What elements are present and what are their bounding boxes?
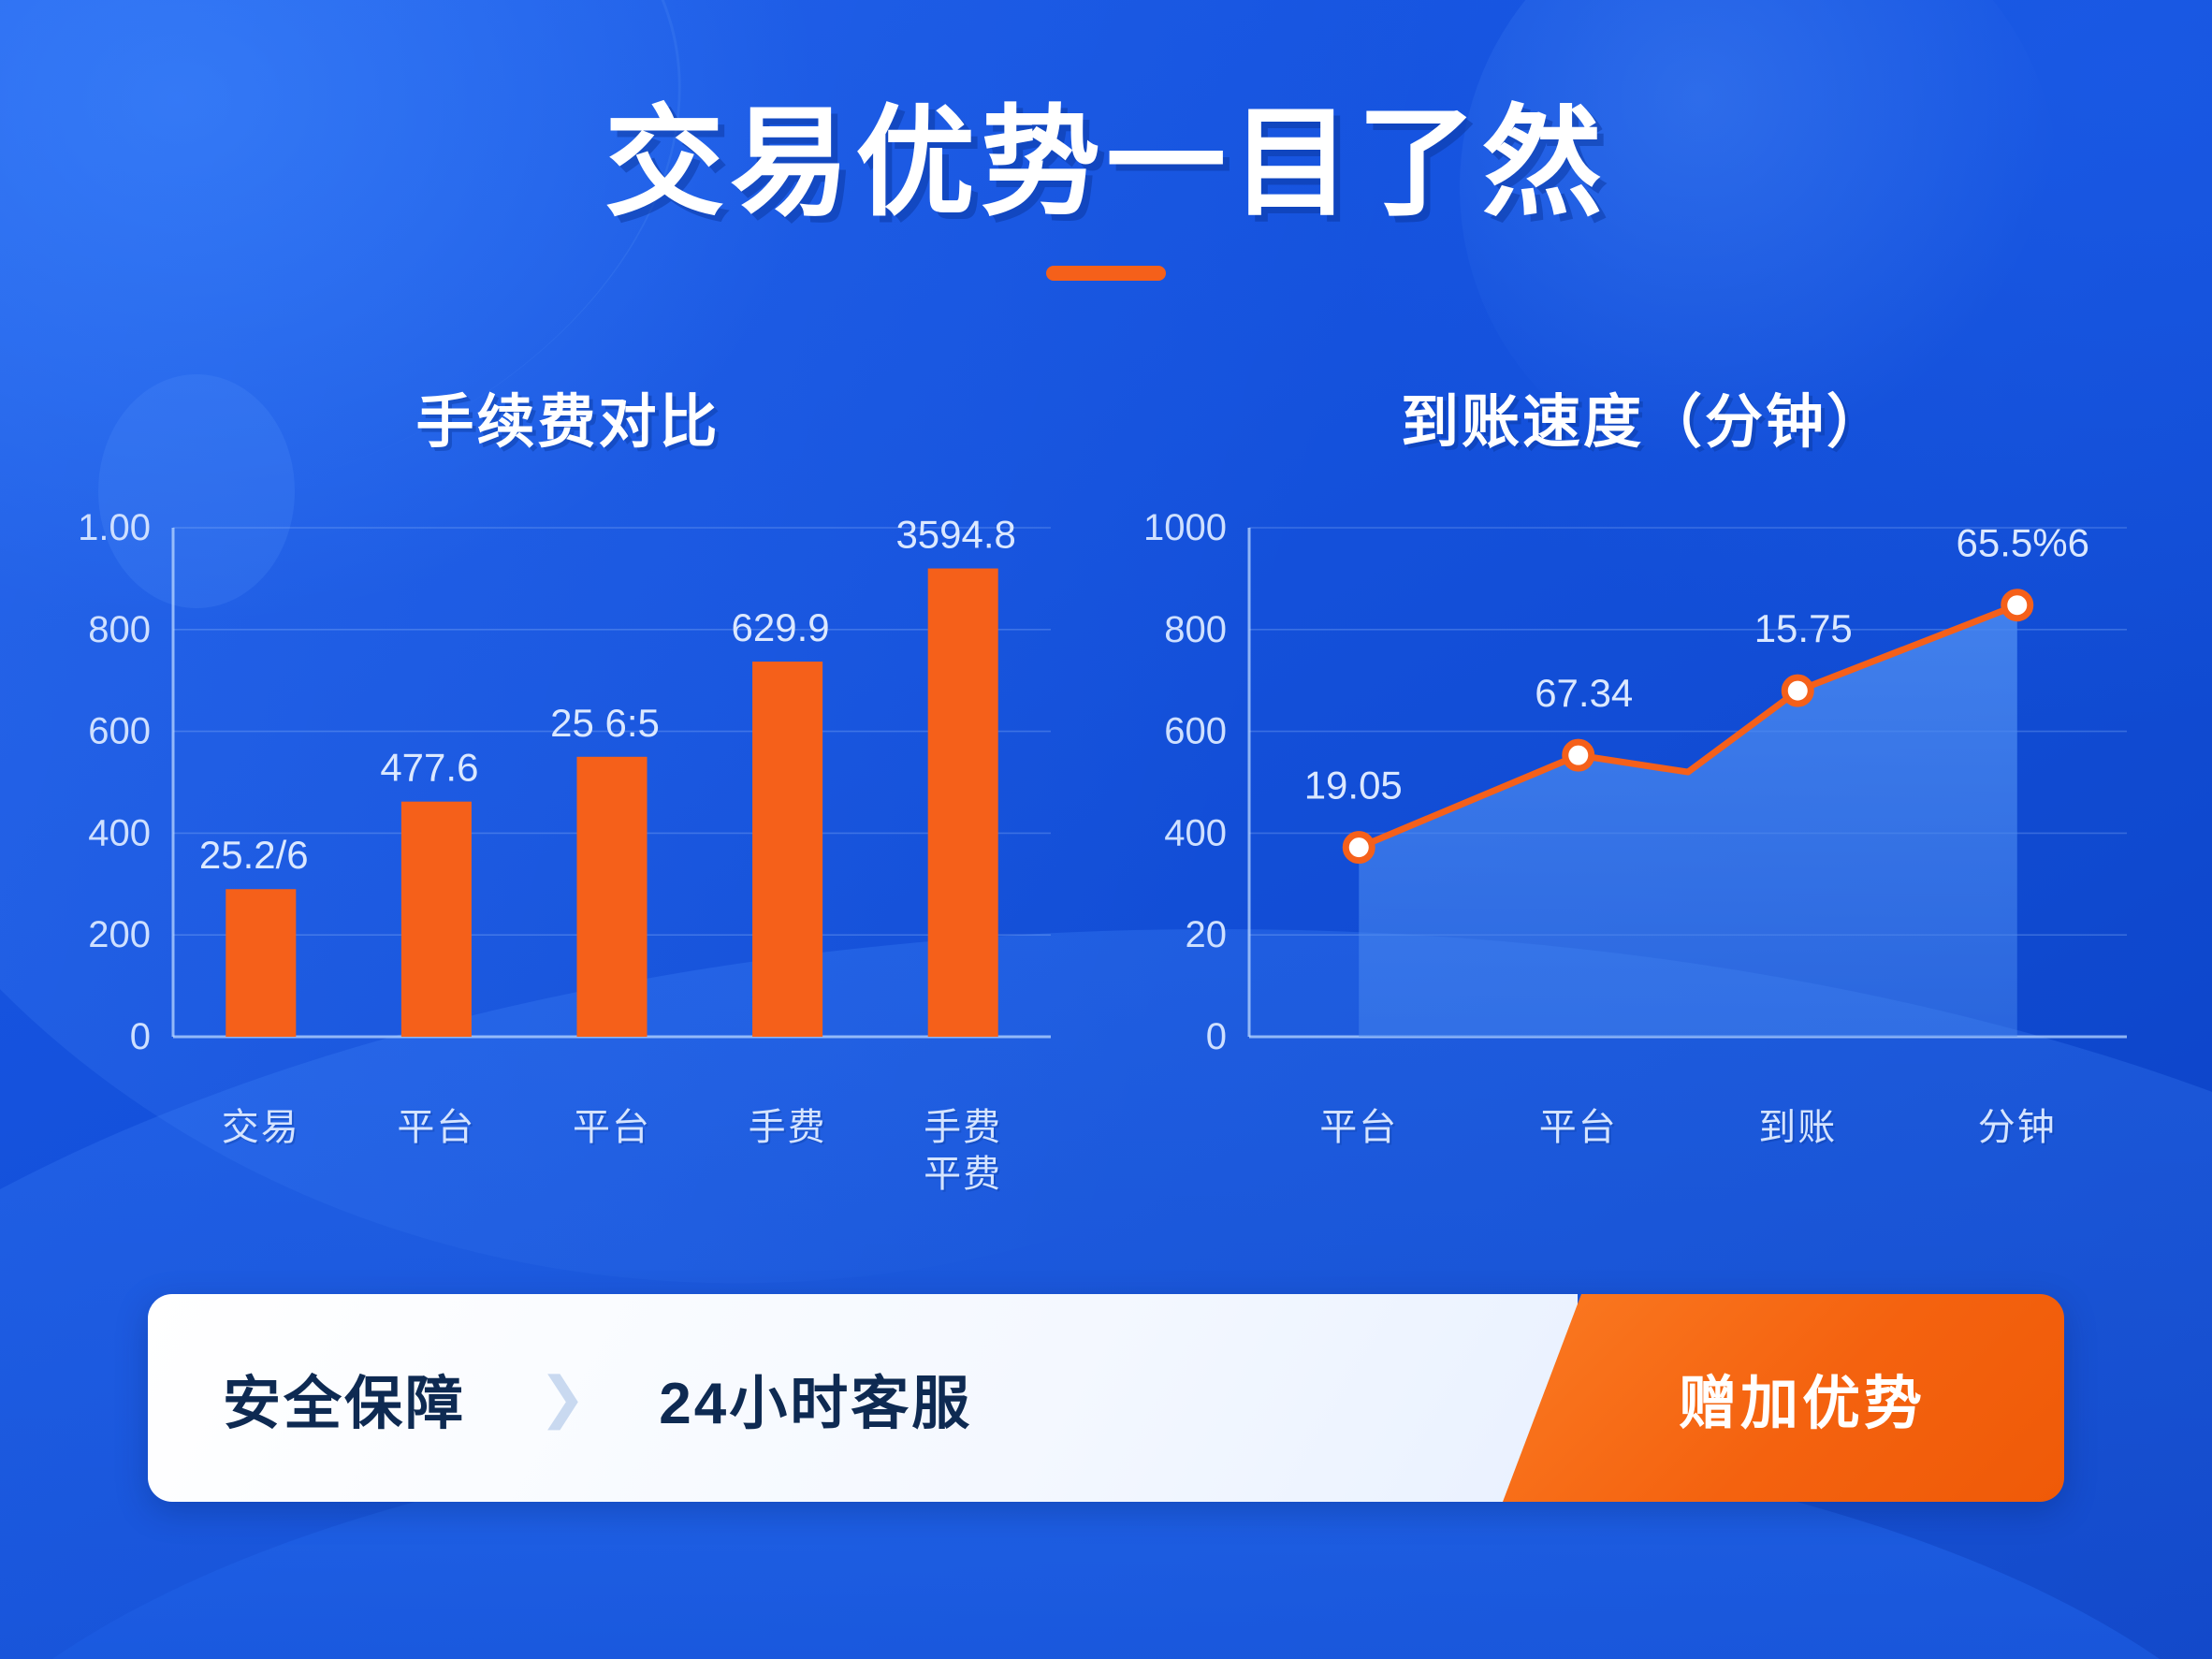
y-tick-label: 800: [1164, 609, 1227, 650]
x-tick-label: 交易: [173, 1104, 349, 1198]
bottom-bar-item-advantage: 赠加优势: [1641, 1356, 1926, 1440]
chart-title-speed: 到账速度（分钟）: [1148, 374, 2140, 458]
x-tick-label: 平台: [1249, 1104, 1469, 1151]
bar-chart-svg: 1.00800600400200025.2/6477.625 6:5629.93…: [72, 503, 1064, 1084]
header: 交易优势一目了然: [0, 0, 2212, 281]
bar: [576, 757, 647, 1037]
bottom-bar-light-section: 安全保障 ❯ 24小时客服: [148, 1294, 1578, 1502]
chart-title-fees: 手续费对比: [72, 374, 1064, 458]
y-tick-label: 0: [1206, 1016, 1227, 1057]
bar-value-label: 3594.8: [895, 513, 1015, 557]
bar: [401, 802, 472, 1037]
charts-container: 手续费对比 1.00800600400200025.2/6477.625 6:5…: [0, 374, 2212, 1198]
y-tick-label: 600: [1164, 711, 1227, 752]
y-tick-label: 200: [88, 914, 151, 955]
data-point-marker: [1784, 677, 1811, 704]
bar-value-label: 629.9: [732, 605, 830, 649]
page-title: 交易优势一目了然: [0, 101, 2212, 226]
data-point-marker: [2004, 592, 2030, 618]
x-tick-label: 到账: [1688, 1104, 1908, 1151]
bar-value-label: 25.2/6: [199, 833, 309, 877]
bar-chart-x-axis-labels: 交易平台平台手费手费平费: [72, 1104, 1064, 1198]
y-tick-label: 0: [130, 1016, 151, 1057]
area-fill: [1359, 605, 2017, 1037]
y-tick-label: 1.00: [78, 507, 151, 548]
x-tick-label: 平台: [349, 1104, 525, 1198]
data-point-label: 67.34: [1535, 671, 1633, 715]
y-tick-label: 20: [1186, 914, 1228, 955]
x-tick-label: 手费: [700, 1104, 876, 1198]
data-point-label: 65.5%6: [1957, 521, 2089, 565]
bar: [752, 662, 822, 1037]
y-tick-label: 800: [88, 609, 151, 650]
data-point-marker: [1346, 835, 1372, 861]
bar-value-label: 477.6: [380, 746, 478, 790]
chart-panel-speed: 到账速度（分钟） 100080060040020019.0567.3415.75…: [1148, 374, 2140, 1198]
x-tick-label: 平台: [1469, 1104, 1689, 1151]
y-tick-label: 400: [1164, 812, 1227, 853]
bottom-bar-accent-section[interactable]: 赠加优势: [1503, 1294, 2064, 1502]
y-tick-label: 400: [88, 812, 151, 853]
bar-chart-plot: 1.00800600400200025.2/6477.625 6:5629.93…: [72, 503, 1064, 1084]
bottom-feature-bar: 安全保障 ❯ 24小时客服 赠加优势: [148, 1294, 2064, 1502]
area-chart-plot: 100080060040020019.0567.3415.7565.5%6: [1148, 503, 2140, 1084]
bottom-bar-item-security[interactable]: 安全保障: [223, 1356, 466, 1440]
title-accent-bar: [1046, 266, 1166, 281]
chart-panel-fees: 手续费对比 1.00800600400200025.2/6477.625 6:5…: [72, 374, 1064, 1198]
data-point-marker: [1565, 742, 1592, 768]
bottom-bar-item-support[interactable]: 24小时客服: [659, 1356, 972, 1440]
chevron-right-icon: ❯: [539, 1365, 586, 1431]
x-tick-label: 平台: [524, 1104, 700, 1198]
bar: [928, 569, 998, 1037]
data-point-label: 19.05: [1304, 764, 1403, 808]
bar-value-label: 25 6:5: [550, 701, 660, 745]
area-chart-svg: 100080060040020019.0567.3415.7565.5%6: [1148, 503, 2140, 1084]
area-chart-x-axis-labels: 平台平台到账分钟: [1148, 1104, 2140, 1151]
y-tick-label: 1000: [1143, 507, 1227, 548]
data-point-label: 15.75: [1754, 606, 1853, 650]
x-tick-label: 分钟: [1908, 1104, 2128, 1151]
bar: [226, 889, 296, 1037]
x-tick-label: 手费平费: [875, 1104, 1051, 1198]
y-tick-label: 600: [88, 711, 151, 752]
